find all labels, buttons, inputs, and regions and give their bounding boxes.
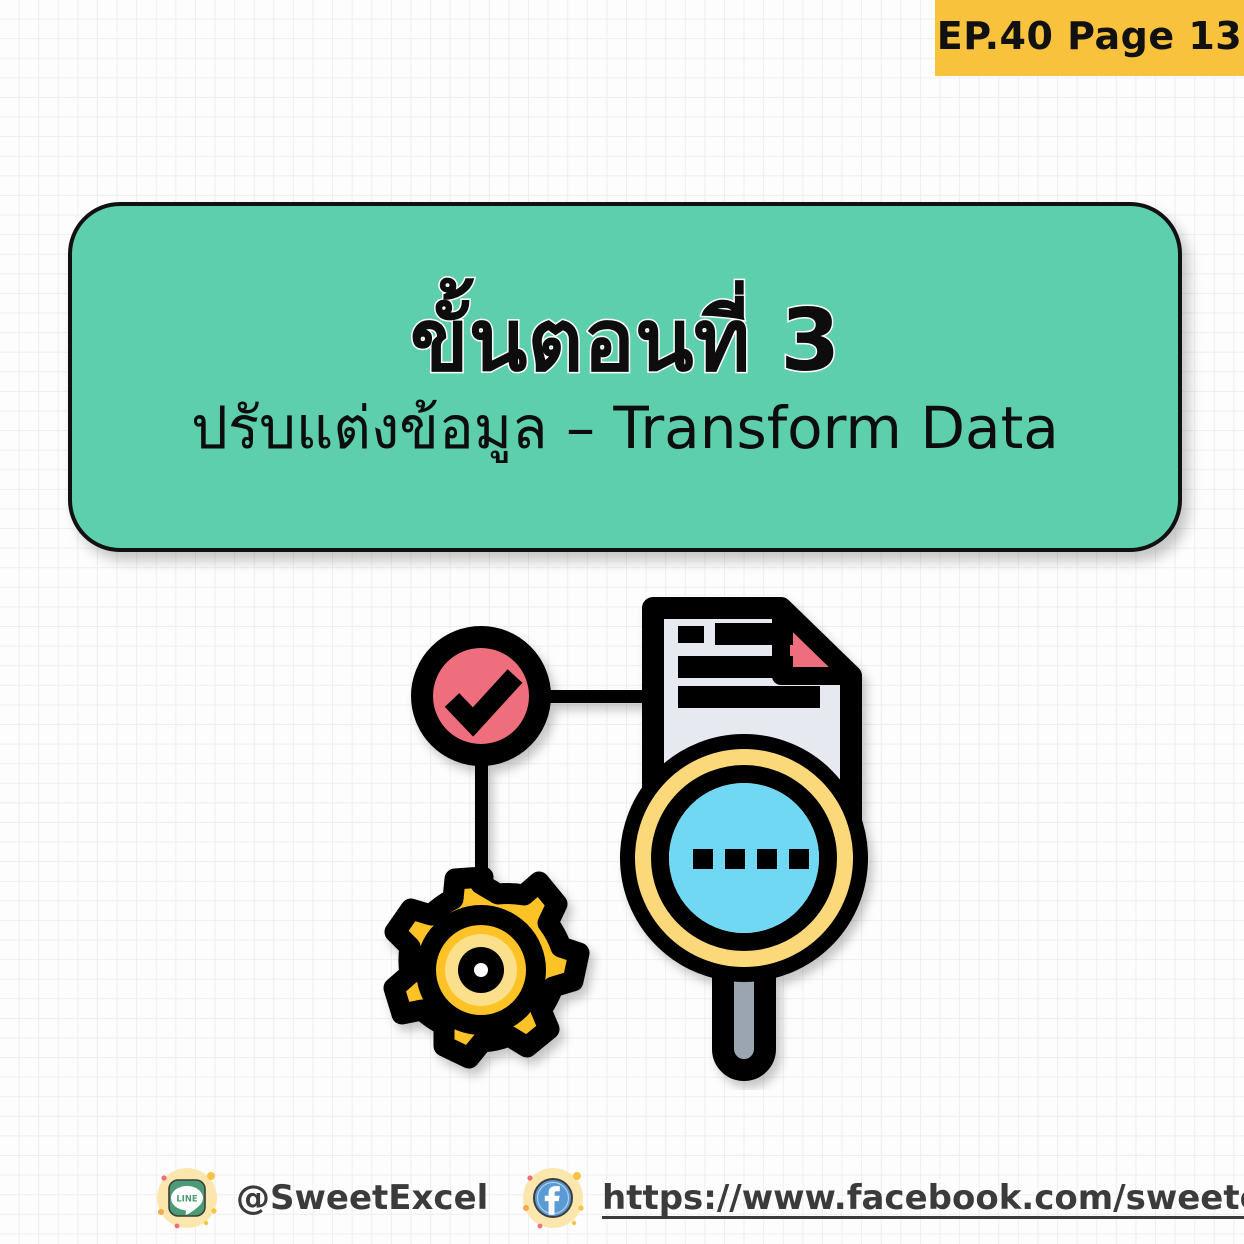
document-line-2 xyxy=(678,656,793,678)
footer-social-bar: LINE @SweetExcel xyxy=(0,1152,1244,1244)
social-line-group[interactable]: LINE @SweetExcel xyxy=(152,1152,488,1244)
svg-text:LINE: LINE xyxy=(176,1194,197,1204)
page-subtitle: ปรับแต่งข้อมูล – Transform Data xyxy=(191,395,1059,462)
lens-dot-2 xyxy=(725,849,745,869)
page-canvas: EP.40 Page 13 ขั้นตอนที่ 3 ปรับแต่งข้อมู… xyxy=(0,0,1244,1244)
magnifier-icon xyxy=(631,745,857,1070)
facebook-url-link[interactable]: https://www.facebook.com/sweetexcelbymd/ xyxy=(602,1178,1244,1218)
lens-dot-3 xyxy=(757,849,777,869)
facebook-icon xyxy=(518,1163,588,1233)
lens-dot-1 xyxy=(693,849,713,869)
document-line-3 xyxy=(678,686,820,708)
gear-icon xyxy=(394,877,579,1058)
document-line-1b xyxy=(715,623,793,645)
transform-data-illustration xyxy=(370,570,890,1090)
title-card: ขั้นตอนที่ 3 ปรับแต่งข้อมูล – Transform … xyxy=(68,202,1182,552)
check-circle-icon xyxy=(422,637,540,755)
line-app-icon: LINE xyxy=(152,1163,222,1233)
page-title: ขั้นตอนที่ 3 xyxy=(410,293,840,389)
episode-page-badge: EP.40 Page 13 xyxy=(935,0,1244,76)
episode-page-label: EP.40 Page 13 xyxy=(937,14,1242,58)
line-handle-label: @SweetExcel xyxy=(236,1178,488,1218)
document-line-1a xyxy=(678,626,704,643)
social-facebook-group[interactable]: https://www.facebook.com/sweetexcelbymd/ xyxy=(518,1152,1244,1244)
lens-dot-4 xyxy=(789,849,809,869)
